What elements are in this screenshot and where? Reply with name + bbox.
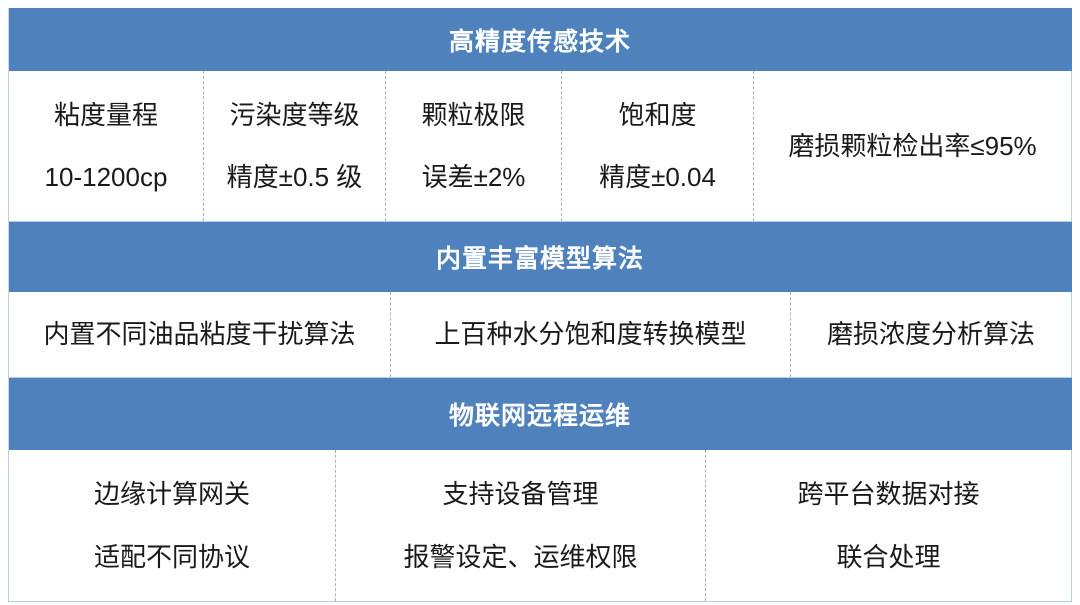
- feature-spec-table: 高精度传感技术 粘度量程 10-1200cp 污染度等级 精度±0.5 级 颗粒…: [8, 8, 1072, 602]
- cell-line-title: 支持设备管理: [442, 478, 598, 511]
- table-row-iot-features: 边缘计算网关 适配不同协议 支持设备管理 报警设定、运维权限 跨平台数据对接 联…: [8, 450, 1072, 602]
- cell-line-value: 磨损浓度分析算法: [827, 318, 1035, 351]
- cell-viscosity-interference-algorithm: 内置不同油品粘度干扰算法: [9, 292, 391, 377]
- cell-wear-concentration-algorithm: 磨损浓度分析算法: [791, 292, 1071, 377]
- section-title-text: 高精度传感技术: [449, 22, 631, 58]
- table-row-sensing-specs: 粘度量程 10-1200cp 污染度等级 精度±0.5 级 颗粒极限 误差±2%…: [8, 71, 1072, 222]
- cell-wear-particle-detection-rate: 磨损颗粒检出率≤95%: [754, 71, 1071, 221]
- cell-moisture-saturation-models: 上百种水分饱和度转换模型: [391, 292, 791, 377]
- cell-line-title: 饱和度: [618, 99, 696, 132]
- cell-line-value: 误差±2%: [422, 161, 526, 194]
- cell-line-value: 上百种水分饱和度转换模型: [434, 318, 746, 351]
- cell-line-title: 跨平台数据对接: [797, 478, 979, 511]
- cell-contamination-grade: 污染度等级 精度±0.5 级: [204, 71, 386, 221]
- section-title-text: 内置丰富模型算法: [436, 239, 644, 275]
- cell-line-value: 报警设定、运维权限: [403, 541, 637, 574]
- section-header-model-algorithms: 内置丰富模型算法: [8, 222, 1072, 292]
- cell-line-value: 联合处理: [836, 541, 940, 574]
- cell-line-value: 精度±0.04: [599, 161, 716, 194]
- cell-line-value: 10-1200cp: [45, 161, 168, 194]
- cell-line-value: 磨损颗粒检出率≤95%: [788, 130, 1036, 163]
- cell-device-management: 支持设备管理 报警设定、运维权限: [336, 450, 706, 601]
- cell-edge-computing-gateway: 边缘计算网关 适配不同协议: [9, 450, 336, 601]
- cell-cross-platform-data: 跨平台数据对接 联合处理: [706, 450, 1071, 601]
- section-title-text: 物联网远程运维: [449, 396, 631, 432]
- table-row-model-algorithms: 内置不同油品粘度干扰算法 上百种水分饱和度转换模型 磨损浓度分析算法: [8, 292, 1072, 378]
- cell-line-title: 粘度量程: [54, 99, 158, 132]
- cell-viscosity-range: 粘度量程 10-1200cp: [9, 71, 204, 221]
- section-header-iot-remote-ops: 物联网远程运维: [8, 378, 1072, 450]
- cell-line-value: 适配不同协议: [94, 541, 250, 574]
- cell-line-value: 精度±0.5 级: [227, 161, 363, 194]
- section-header-sensing: 高精度传感技术: [8, 8, 1072, 71]
- cell-saturation: 饱和度 精度±0.04: [562, 71, 754, 221]
- cell-line-title: 边缘计算网关: [94, 478, 250, 511]
- cell-line-title: 颗粒极限: [421, 99, 525, 132]
- cell-particle-limit: 颗粒极限 误差±2%: [386, 71, 562, 221]
- cell-line-value: 内置不同油品粘度干扰算法: [43, 318, 355, 351]
- cell-line-title: 污染度等级: [229, 99, 359, 132]
